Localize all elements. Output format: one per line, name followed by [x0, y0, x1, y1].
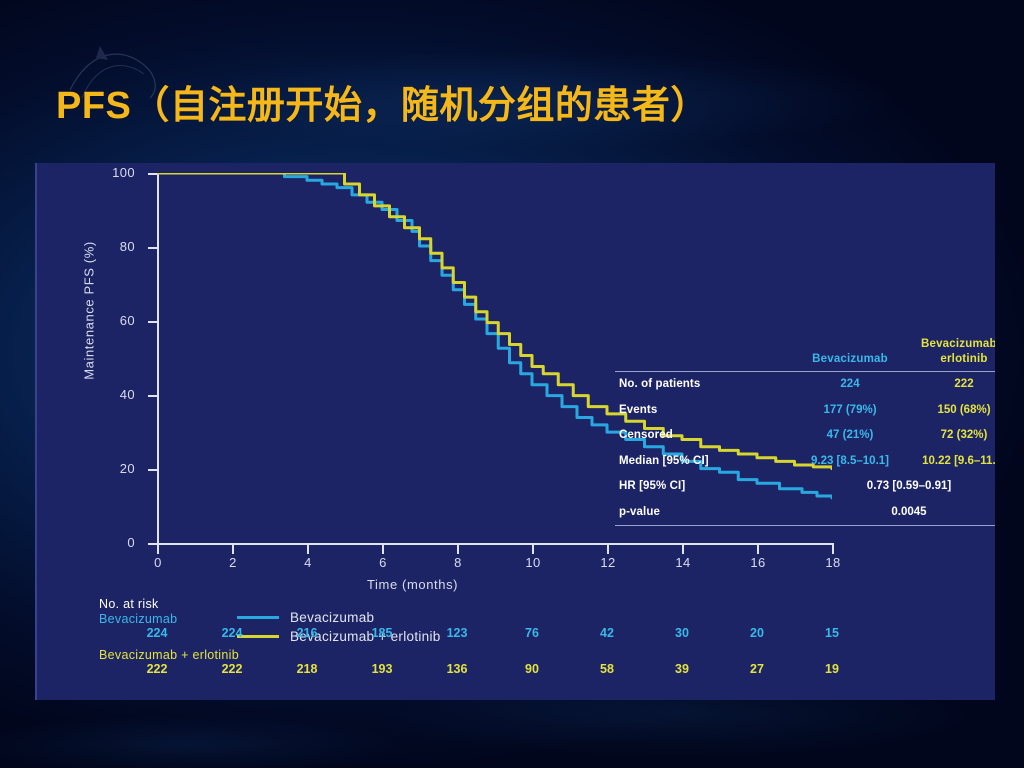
- chart-panel: Maintenance PFS (%) 100 80 60 40 20 0 0 …: [35, 163, 995, 700]
- stats-col-header-line1: Bevacizumab +: [905, 337, 995, 352]
- stats-col-header-line2: erlotinib: [905, 352, 995, 367]
- stats-row-label: Censored: [619, 429, 673, 441]
- y-tick-0: [148, 543, 157, 545]
- stats-cell-a: 177 (79%): [795, 404, 905, 416]
- x-tick-18: [832, 545, 834, 554]
- x-tick-label-8: 8: [443, 555, 473, 570]
- stats-cell-b: 150 (68%): [905, 404, 995, 416]
- risk-values-bevacizumab: 2242242161851237642302015: [99, 626, 899, 645]
- stats-cell-span: 0.0045: [795, 506, 995, 518]
- risk-group-label-bevacizumab-erlotinib: Bevacizumab + erlotinib: [99, 648, 899, 662]
- x-tick-14: [682, 545, 684, 554]
- stats-rule-bottom: [615, 525, 995, 526]
- x-tick-12: [607, 545, 609, 554]
- risk-value: 222: [212, 662, 252, 676]
- y-tick-20: [148, 469, 157, 471]
- risk-values-bevacizumab-erlotinib: 2222222181931369058392719: [99, 662, 899, 681]
- y-tick-80: [148, 247, 157, 249]
- risk-value: 123: [437, 626, 477, 640]
- stats-cell-b: 72 (32%): [905, 429, 995, 441]
- x-tick-10: [532, 545, 534, 554]
- stats-cell-a: 47 (21%): [795, 429, 905, 441]
- risk-value: 224: [137, 626, 177, 640]
- x-tick-label-16: 16: [743, 555, 773, 570]
- risk-value: 224: [212, 626, 252, 640]
- risk-value: 185: [362, 626, 402, 640]
- x-tick-4: [307, 545, 309, 554]
- risk-value: 216: [287, 626, 327, 640]
- y-tick-label-0: 0: [101, 535, 135, 550]
- x-tick-8: [457, 545, 459, 554]
- stats-row-label: Events: [619, 404, 657, 416]
- risk-value: 27: [737, 662, 777, 676]
- stats-col-header-bevacizumab-erlotinib: Bevacizumab + erlotinib: [905, 337, 995, 367]
- stats-cell-b: 10.22 [9.6–11.1]: [905, 455, 995, 467]
- x-tick-2: [232, 545, 234, 554]
- risk-table-title: No. at risk: [99, 597, 899, 611]
- risk-value: 58: [587, 662, 627, 676]
- stats-row-label: Median [95% CI]: [619, 455, 709, 467]
- statistics-table: Bevacizumab Bevacizumab + erlotinib No. …: [615, 331, 995, 526]
- y-tick-100: [148, 173, 157, 175]
- x-tick-0: [157, 545, 159, 554]
- x-tick-label-0: 0: [143, 555, 173, 570]
- y-tick-40: [148, 395, 157, 397]
- risk-value: 218: [287, 662, 327, 676]
- x-tick-label-14: 14: [668, 555, 698, 570]
- x-axis-line: [157, 543, 834, 545]
- risk-value: 15: [812, 626, 852, 640]
- stats-row-label: HR [95% CI]: [619, 480, 685, 492]
- x-tick-label-2: 2: [218, 555, 248, 570]
- risk-value: 76: [512, 626, 552, 640]
- y-tick-60: [148, 321, 157, 323]
- stats-row-label: No. of patients: [619, 378, 700, 390]
- x-axis-label: Time (months): [367, 577, 458, 592]
- x-tick-label-18: 18: [818, 555, 848, 570]
- y-tick-label-40: 40: [101, 387, 135, 402]
- x-tick-16: [757, 545, 759, 554]
- y-tick-label-20: 20: [101, 461, 135, 476]
- x-tick-label-4: 4: [293, 555, 323, 570]
- risk-value: 193: [362, 662, 402, 676]
- table-row: Censored 47 (21%) 72 (32%): [615, 423, 995, 449]
- risk-value: 30: [662, 626, 702, 640]
- page-title: PFS（自注册开始，随机分组的患者）: [56, 74, 709, 129]
- table-row: No. of patients 224 222: [615, 372, 995, 398]
- risk-group-label-bevacizumab: Bevacizumab: [99, 612, 899, 626]
- risk-value: 42: [587, 626, 627, 640]
- table-row: Median [95% CI] 9.23 [8.5–10.1] 10.22 [9…: [615, 449, 995, 475]
- table-row: Events 177 (79%) 150 (68%): [615, 398, 995, 424]
- risk-value: 39: [662, 662, 702, 676]
- stats-cell-a: 224: [795, 378, 905, 390]
- x-tick-label-10: 10: [518, 555, 548, 570]
- x-tick-label-6: 6: [368, 555, 398, 570]
- number-at-risk-table: No. at risk Bevacizumab 2242242161851237…: [99, 597, 899, 681]
- stats-cell-span: 0.73 [0.59–0.91]: [795, 480, 995, 492]
- risk-value: 222: [137, 662, 177, 676]
- stats-row-label: p-value: [619, 506, 660, 518]
- stats-cell-b: 222: [905, 378, 995, 390]
- y-tick-label-100: 100: [101, 165, 135, 180]
- y-tick-label-80: 80: [101, 239, 135, 254]
- x-tick-label-12: 12: [593, 555, 623, 570]
- table-row: p-value 0.0045: [615, 500, 995, 526]
- stats-col-header-bevacizumab: Bevacizumab: [795, 353, 905, 365]
- stats-cell-a: 9.23 [8.5–10.1]: [795, 455, 905, 467]
- risk-value: 90: [512, 662, 552, 676]
- y-tick-label-60: 60: [101, 313, 135, 328]
- risk-value: 136: [437, 662, 477, 676]
- risk-value: 20: [737, 626, 777, 640]
- statistics-table-header: Bevacizumab Bevacizumab + erlotinib: [615, 331, 995, 371]
- x-tick-6: [382, 545, 384, 554]
- risk-value: 19: [812, 662, 852, 676]
- table-row: HR [95% CI] 0.73 [0.59–0.91]: [615, 474, 995, 500]
- y-axis-label: Maintenance PFS (%): [82, 201, 97, 421]
